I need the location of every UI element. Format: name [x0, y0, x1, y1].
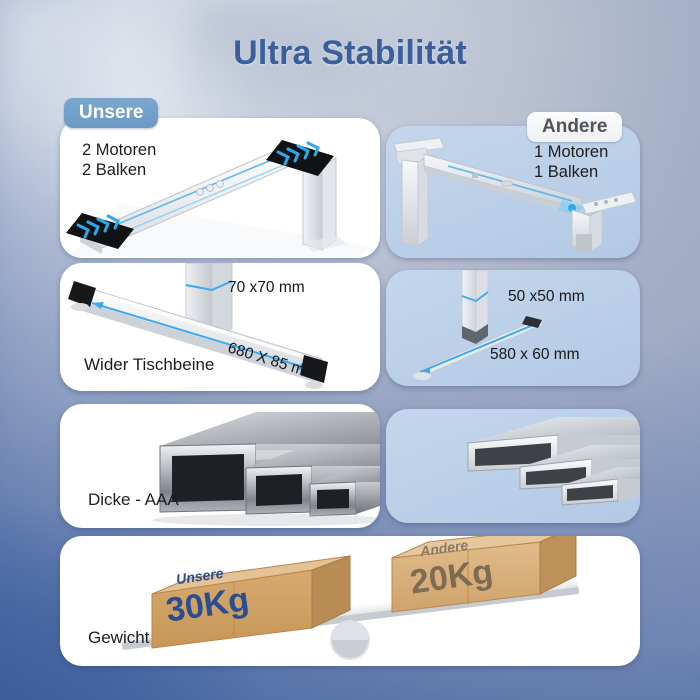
card-thickness-other: [386, 409, 640, 523]
motors-ours-line1: 2 Motoren: [82, 140, 156, 160]
weight-label: Gewicht: [88, 628, 149, 648]
badge-other: Andere: [527, 112, 622, 142]
card-weight: Unsere 30Kg Andere 20Kg Gewicht: [60, 536, 640, 666]
motors-ours-line2: 2 Balken: [82, 160, 156, 180]
badge-ours: Unsere: [64, 98, 158, 128]
motors-ours-label: 2 Motoren 2 Balken: [82, 140, 156, 180]
card-legs-other: 50 x50 mm 580 x 60 mm: [386, 270, 640, 386]
legs-ours-column-spec: 70 x70 mm: [228, 279, 305, 297]
thickness-ours-label: Dicke - AAA: [88, 490, 179, 510]
page-title: Ultra Stabilität: [0, 34, 700, 73]
card-thickness-ours: Dicke - AAA: [60, 404, 380, 528]
dual-motor-desk-frame-illustration: [60, 118, 380, 258]
card-motors-other: 1 Motoren 1 Balken: [386, 126, 640, 258]
motors-other-label: 1 Motoren 1 Balken: [534, 142, 608, 182]
card-motors-ours: 2 Motoren 2 Balken: [60, 118, 380, 258]
card-legs-ours: 70 x70 mm 680 X 85 mm Wider Tischbeine: [60, 263, 380, 391]
legs-ours-label: Wider Tischbeine: [84, 355, 214, 375]
legs-other-foot-spec: 580 x 60 mm: [490, 346, 580, 364]
infographic-root: Ultra Stabilität Unsere Andere: [0, 0, 700, 700]
legs-other-column-spec: 50 x50 mm: [508, 288, 585, 306]
motors-other-line2: 1 Balken: [534, 162, 608, 182]
motors-other-line1: 1 Motoren: [534, 142, 608, 162]
thin-flat-steel-tubes-illustration: [386, 409, 640, 523]
